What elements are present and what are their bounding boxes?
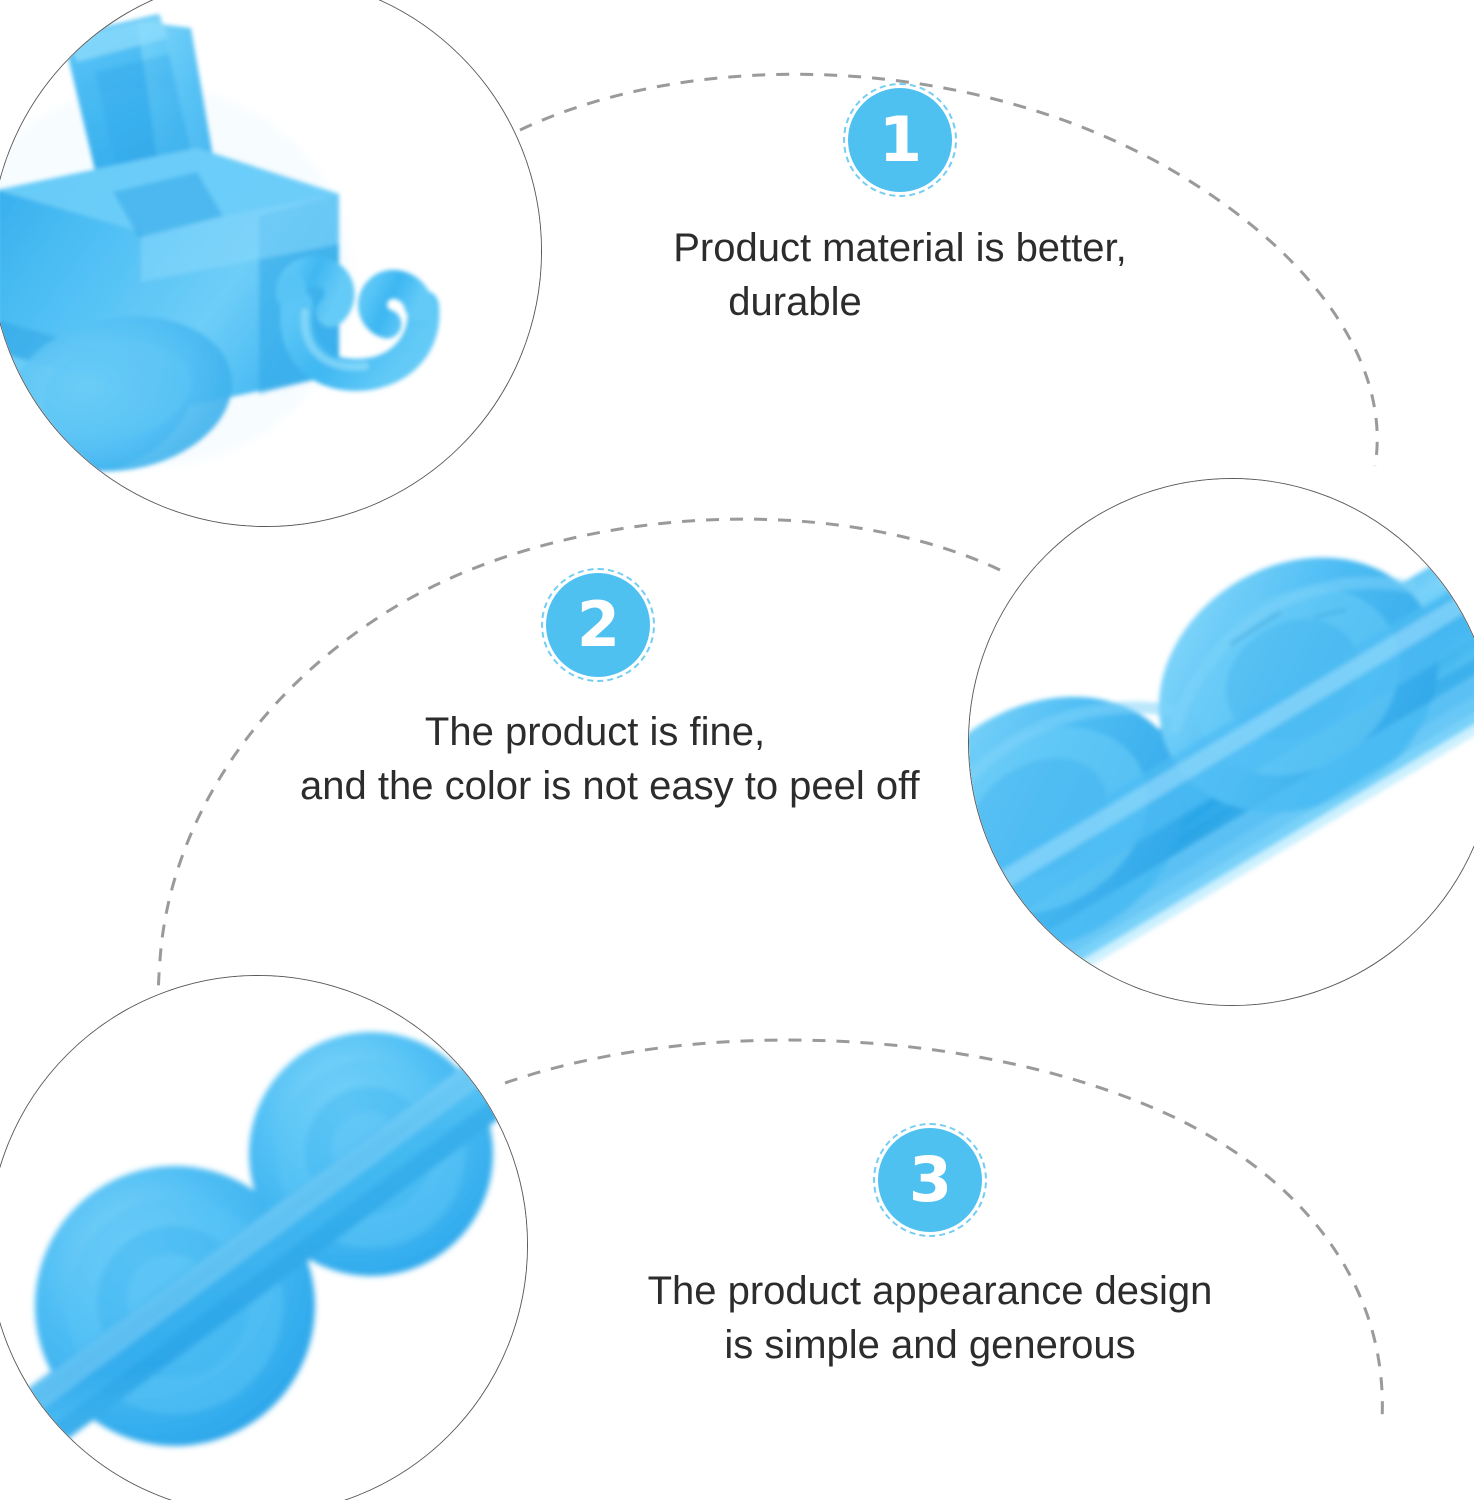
photo-3-content	[0, 976, 527, 1500]
badge-3-number: 3	[909, 1149, 951, 1211]
caption-1: Product material is better, durable	[600, 222, 1200, 329]
badge-1-number: 1	[879, 109, 921, 171]
product-photo-suction-bar-angled	[968, 478, 1474, 1006]
caption-3-line-2: is simple and generous	[630, 1319, 1230, 1373]
badge-3: 3	[878, 1128, 982, 1232]
photo-2-content	[969, 479, 1474, 1005]
badge-2-number: 2	[577, 594, 619, 656]
photo-1-content	[0, 0, 541, 526]
product-photo-twin-suction-cups	[0, 975, 528, 1500]
badge-1: 1	[848, 88, 952, 192]
product-photo-hook-closeup	[0, 0, 542, 527]
caption-2-line-1: The product is fine,	[290, 706, 900, 760]
caption-1-line-2: durable	[390, 276, 1200, 330]
caption-1-line-1: Product material is better,	[600, 222, 1200, 276]
caption-2: The product is fine, and the color is no…	[300, 706, 900, 813]
caption-3: The product appearance design is simple …	[630, 1265, 1230, 1372]
badge-2: 2	[546, 573, 650, 677]
caption-2-line-2: and the color is not easy to peel off	[300, 760, 900, 814]
infographic-canvas: 1 Product material is better, durable	[0, 0, 1474, 1500]
caption-3-line-1: The product appearance design	[630, 1265, 1230, 1319]
